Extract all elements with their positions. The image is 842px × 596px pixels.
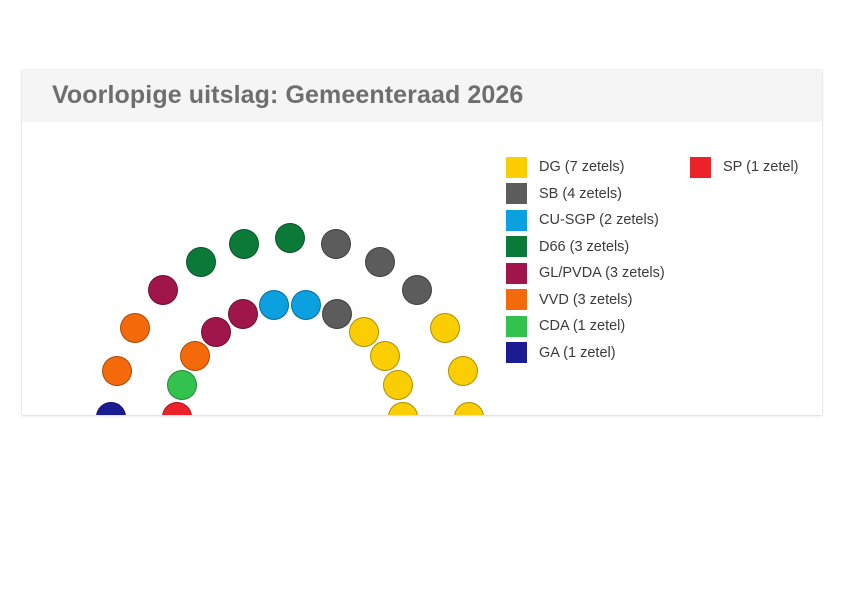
seat-cu-sgp[interactable] (259, 290, 289, 320)
seat-ga[interactable] (96, 402, 126, 415)
seat-d66[interactable] (229, 229, 259, 259)
legend-column-1: DG (7 zetels)SB (4 zetels)CU-SGP (2 zete… (506, 154, 665, 366)
legend-swatch-icon (506, 210, 527, 231)
legend-swatch-icon (506, 342, 527, 363)
legend-item-dg[interactable]: DG (7 zetels) (506, 154, 665, 181)
legend-item-label: CDA (1 zetel) (539, 318, 625, 334)
seat-sp[interactable] (162, 402, 192, 415)
seat-sb[interactable] (321, 229, 351, 259)
legend-swatch-icon (506, 316, 527, 337)
legend-item-sp[interactable]: SP (1 zetel) (690, 154, 799, 181)
legend-swatch-icon (690, 157, 711, 178)
chart-legend: DG (7 zetels)SB (4 zetels)CU-SGP (2 zete… (506, 154, 822, 384)
seat-d66[interactable] (186, 247, 216, 277)
legend-item-gl-pvda[interactable]: GL/PVDA (3 zetels) (506, 260, 665, 287)
legend-item-label: CU-SGP (2 zetels) (539, 212, 659, 228)
seat-dg[interactable] (370, 341, 400, 371)
parliament-seat-chart (22, 122, 502, 415)
card-body: DG (7 zetels)SB (4 zetels)CU-SGP (2 zete… (22, 122, 822, 415)
seat-sb[interactable] (365, 247, 395, 277)
seat-sb[interactable] (402, 275, 432, 305)
legend-item-vvd[interactable]: VVD (3 zetels) (506, 287, 665, 314)
legend-item-ga[interactable]: GA (1 zetel) (506, 340, 665, 367)
seat-sb[interactable] (322, 299, 352, 329)
seat-gl-pvda[interactable] (228, 299, 258, 329)
seat-gl-pvda[interactable] (148, 275, 178, 305)
seat-d66[interactable] (275, 223, 305, 253)
legend-swatch-icon (506, 236, 527, 257)
legend-column-2: SP (1 zetel) (690, 154, 799, 181)
seat-dg[interactable] (388, 402, 418, 415)
legend-item-label: GA (1 zetel) (539, 345, 616, 361)
seat-dg[interactable] (383, 370, 413, 400)
legend-swatch-icon (506, 263, 527, 284)
legend-item-label: GL/PVDA (3 zetels) (539, 265, 665, 281)
seat-dg[interactable] (349, 317, 379, 347)
legend-item-cu-sgp[interactable]: CU-SGP (2 zetels) (506, 207, 665, 234)
result-card: Voorlopige uitslag: Gemeenteraad 2026 DG… (22, 70, 822, 415)
legend-swatch-icon (506, 289, 527, 310)
seat-gl-pvda[interactable] (201, 317, 231, 347)
card-header: Voorlopige uitslag: Gemeenteraad 2026 (22, 70, 822, 123)
legend-item-label: SB (4 zetels) (539, 186, 622, 202)
legend-item-label: D66 (3 zetels) (539, 239, 629, 255)
seat-vvd[interactable] (180, 341, 210, 371)
legend-swatch-icon (506, 183, 527, 204)
seat-dg[interactable] (430, 313, 460, 343)
legend-item-label: DG (7 zetels) (539, 159, 624, 175)
legend-item-cda[interactable]: CDA (1 zetel) (506, 313, 665, 340)
legend-item-sb[interactable]: SB (4 zetels) (506, 181, 665, 208)
legend-swatch-icon (506, 157, 527, 178)
seat-dg[interactable] (454, 402, 484, 415)
seat-cda[interactable] (167, 370, 197, 400)
seat-vvd[interactable] (102, 356, 132, 386)
seat-vvd[interactable] (120, 313, 150, 343)
legend-item-label: SP (1 zetel) (723, 159, 799, 175)
seat-cu-sgp[interactable] (291, 290, 321, 320)
legend-item-label: VVD (3 zetels) (539, 292, 632, 308)
page-title: Voorlopige uitslag: Gemeenteraad 2026 (52, 81, 523, 110)
legend-item-d66[interactable]: D66 (3 zetels) (506, 234, 665, 261)
seat-dg[interactable] (448, 356, 478, 386)
